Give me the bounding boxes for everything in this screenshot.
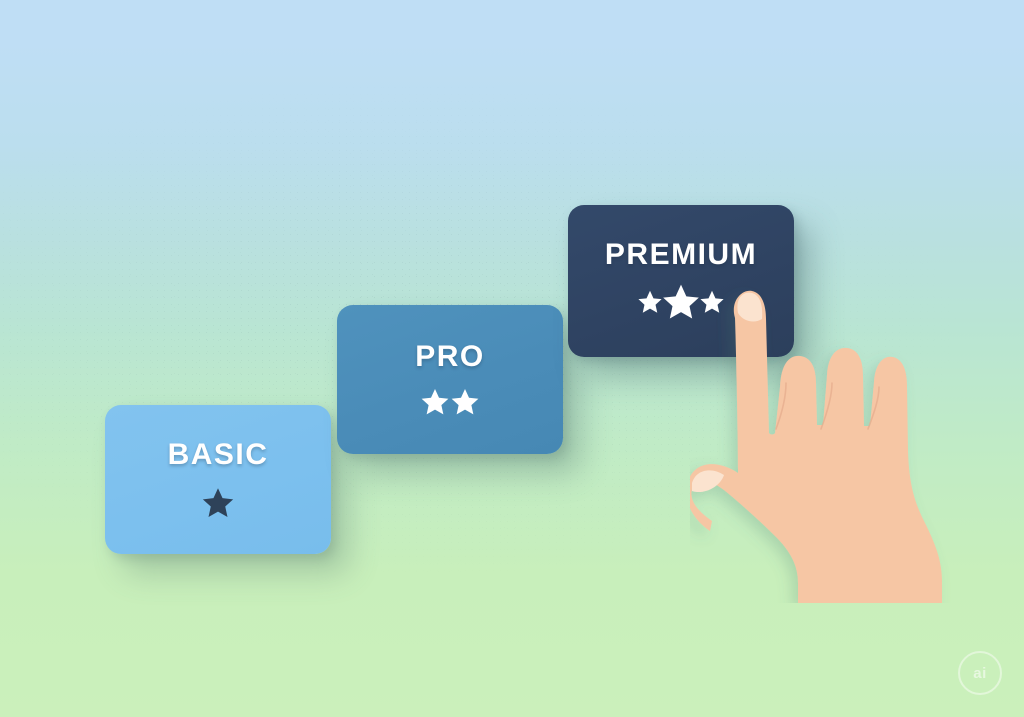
star-icon bbox=[201, 486, 235, 520]
tier-card-basic[interactable]: BASIC bbox=[105, 405, 331, 554]
tier-label-basic: BASIC bbox=[168, 440, 269, 470]
star-icon bbox=[450, 387, 480, 417]
star-icon bbox=[699, 289, 725, 315]
tier-rating-pro bbox=[420, 387, 480, 417]
tier-rating-basic bbox=[201, 486, 235, 520]
star-icon bbox=[420, 387, 450, 417]
tier-label-premium: PREMIUM bbox=[605, 240, 757, 270]
tier-card-pro[interactable]: PRO bbox=[337, 305, 563, 454]
scene-canvas: BASIC PRO PREMIUM bbox=[0, 0, 1024, 717]
tier-card-premium[interactable]: PREMIUM bbox=[568, 205, 794, 357]
watermark-label: ai bbox=[973, 665, 987, 682]
star-icon bbox=[661, 282, 701, 322]
tier-rating-premium bbox=[637, 282, 725, 322]
tier-label-pro: PRO bbox=[415, 342, 485, 372]
star-icon bbox=[637, 289, 663, 315]
watermark-badge: ai bbox=[958, 651, 1002, 695]
